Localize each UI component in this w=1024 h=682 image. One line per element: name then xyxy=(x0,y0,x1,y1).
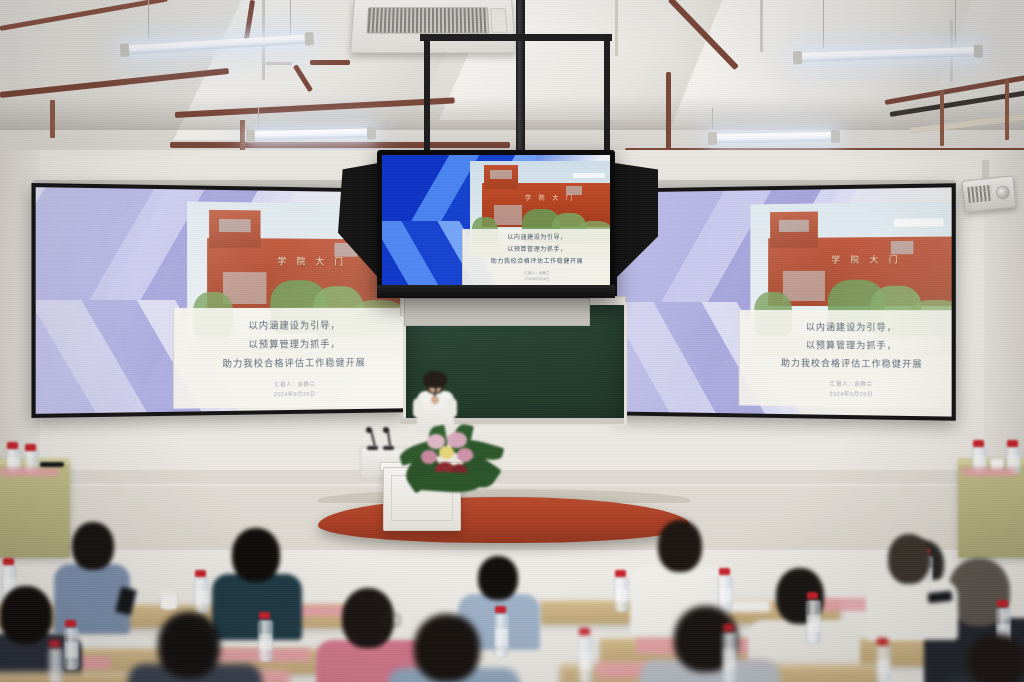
water-bottle xyxy=(876,646,891,682)
tv-lower-housing xyxy=(404,298,590,326)
tea-cup-lid xyxy=(159,590,177,597)
light-endcap xyxy=(793,51,802,64)
flower-foliage xyxy=(416,470,481,494)
light-hanger xyxy=(712,108,713,130)
remote-control xyxy=(40,462,64,467)
bottle-cap xyxy=(807,592,818,599)
person-head xyxy=(658,520,702,572)
bottle-cap xyxy=(195,570,206,577)
slide-headline-1: 以内涵建设为引导， xyxy=(507,232,566,241)
tv-screen-surface: 学 院 大 门 以内涵建设为引导， 以预算管理为抓手， 助力我校合格评估工作稳健… xyxy=(382,155,610,285)
desk-mat xyxy=(0,468,58,476)
water-bottle xyxy=(64,628,79,670)
water-bottle xyxy=(806,600,821,644)
projector-vent xyxy=(967,185,993,203)
tv-bezel-bottom xyxy=(377,285,615,298)
slide-date: 2024年9月26日 xyxy=(525,277,550,282)
light-endcap xyxy=(304,32,314,46)
bottle-label xyxy=(615,589,628,602)
audience-member xyxy=(660,606,764,682)
bottle-cap xyxy=(997,600,1008,607)
audience-member xyxy=(146,612,246,682)
person-head xyxy=(888,534,930,584)
light-hanger xyxy=(148,0,149,38)
bottle-cap xyxy=(259,612,270,619)
conference-room-photo: 学 院 大 门 以内涵建设为引导， 以预算管理为抓手， 助力我校合格评估工作稳健… xyxy=(0,0,1024,682)
ceiling-conduit xyxy=(615,0,618,56)
projector-icon xyxy=(961,175,1016,212)
pipe-clamp xyxy=(50,100,55,138)
bottle-cap xyxy=(579,628,590,635)
bottle-label xyxy=(579,652,592,670)
desk-mat xyxy=(962,468,1016,476)
ceiling-pipe xyxy=(666,72,671,152)
microphone-head xyxy=(383,427,389,433)
person-torso xyxy=(866,580,958,640)
bottle-cap xyxy=(973,440,984,447)
eyeglasses-icon xyxy=(384,614,400,626)
bottle-cap xyxy=(719,568,730,575)
presenter-hand xyxy=(431,396,439,404)
bottle-label xyxy=(807,615,820,632)
slide-center: 学 院 大 门 以内涵建设为引导， 以预算管理为抓手， 助力我校合格评估工作稳健… xyxy=(382,155,610,285)
flower-bloom xyxy=(447,432,467,448)
center-hanging-tv: 学 院 大 门 以内涵建设为引导， 以预算管理为抓手， 助力我校合格评估工作稳健… xyxy=(377,150,615,298)
tv-mount-bar xyxy=(420,34,612,41)
audience-member xyxy=(404,614,504,682)
light-hanger xyxy=(258,108,259,130)
person-head xyxy=(414,614,480,682)
bottle-label xyxy=(1007,456,1020,467)
photo-window xyxy=(494,205,522,225)
bottle-cap xyxy=(3,558,14,565)
projection-wash xyxy=(617,187,952,416)
bottle-label xyxy=(719,588,732,602)
audience-member xyxy=(960,634,1024,682)
water-bottle xyxy=(258,620,273,662)
ceiling-shadow xyxy=(0,96,1024,130)
water-bottle xyxy=(194,578,209,614)
water-bottle xyxy=(722,632,737,682)
light-hanger xyxy=(290,0,291,36)
tv-mount-arm xyxy=(604,36,610,154)
person-head xyxy=(232,528,280,582)
photo-building-sign: 学 院 大 门 xyxy=(502,193,598,202)
bottle-cap xyxy=(25,444,36,451)
light-endcap xyxy=(246,129,255,142)
ac-grill xyxy=(366,7,489,33)
bottle-cap xyxy=(49,640,60,647)
person-head xyxy=(968,634,1024,682)
photo-window xyxy=(490,170,512,179)
pipe-clamp xyxy=(1005,80,1009,140)
slide-text-panel: 以内涵建设为引导， 以预算管理为抓手， 助力我校合格评估工作稳健开展 汇报人：余… xyxy=(462,229,610,285)
flower-bloom xyxy=(421,450,437,464)
bottle-label xyxy=(65,642,78,658)
microphone-head xyxy=(366,427,372,433)
bottle-label xyxy=(877,659,890,674)
person-head xyxy=(158,612,220,678)
bottle-label xyxy=(259,634,272,650)
light-endcap xyxy=(708,132,717,145)
bottle-cap xyxy=(723,624,734,631)
bottle-cap xyxy=(877,638,888,645)
side-desk-right xyxy=(958,462,1024,558)
person-head xyxy=(72,522,114,570)
person-head xyxy=(478,556,518,600)
flower-bloom xyxy=(457,448,473,462)
ac-vent xyxy=(490,8,507,33)
light-endcap xyxy=(120,43,130,57)
ceiling-pipe xyxy=(310,60,350,65)
bottle-cap xyxy=(495,606,506,613)
bottle-cap xyxy=(1007,440,1018,447)
bottle-cap xyxy=(615,570,626,577)
water-bottle xyxy=(48,648,63,682)
ceiling-conduit xyxy=(760,0,763,52)
slide-headline-3: 助力我校合格评估工作稳健开展 xyxy=(491,256,583,265)
slide-right: 学 院 大 门 以内涵建设为引导， 以预算管理为抓手， 助力我校合格评估工作稳健… xyxy=(617,187,952,416)
ac-unit-icon xyxy=(350,0,516,53)
slide-presenter: 汇报人：余静兰 xyxy=(524,271,549,276)
presenter-hair xyxy=(423,371,447,388)
water-bottle xyxy=(614,578,629,612)
audience-member xyxy=(874,534,948,630)
light-endcap xyxy=(367,126,376,139)
person-head xyxy=(0,586,52,644)
bottle-label xyxy=(195,590,208,604)
presenter-arm xyxy=(447,398,457,418)
light-endcap xyxy=(831,130,840,143)
ceiling-pipe xyxy=(170,142,510,148)
tv-mount-pole xyxy=(516,0,525,150)
microphone-base xyxy=(367,446,378,450)
right-screen-surface: 学 院 大 门 以内涵建设为引导， 以预算管理为抓手， 助力我校合格评估工作稳健… xyxy=(617,187,952,416)
flower-arrangement xyxy=(399,418,503,492)
slide-headline-2: 以预算管理为抓手， xyxy=(507,244,566,253)
tv-mount-arm xyxy=(424,36,430,154)
flower-bloom xyxy=(439,446,454,459)
bottle-label xyxy=(7,457,20,467)
slide-corner-badge xyxy=(573,173,605,178)
light-hanger xyxy=(823,0,824,48)
right-projection-screen: 学 院 大 门 以内涵建设为引导， 以预算管理为抓手， 助力我校合格评估工作稳健… xyxy=(613,183,956,421)
projector-lens xyxy=(995,185,1010,200)
wall-trim xyxy=(0,470,1024,484)
pipe-clamp xyxy=(240,120,245,152)
presenter-arm xyxy=(413,398,423,418)
light-hanger xyxy=(955,0,956,44)
bottle-label xyxy=(973,456,986,467)
bottle-cap xyxy=(7,442,18,449)
light-endcap xyxy=(974,45,983,58)
bottle-label xyxy=(723,649,736,669)
bottle-cap xyxy=(65,620,76,627)
pipe-clamp xyxy=(940,90,944,146)
ceiling-conduit xyxy=(266,62,292,65)
water-bottle xyxy=(578,636,593,682)
